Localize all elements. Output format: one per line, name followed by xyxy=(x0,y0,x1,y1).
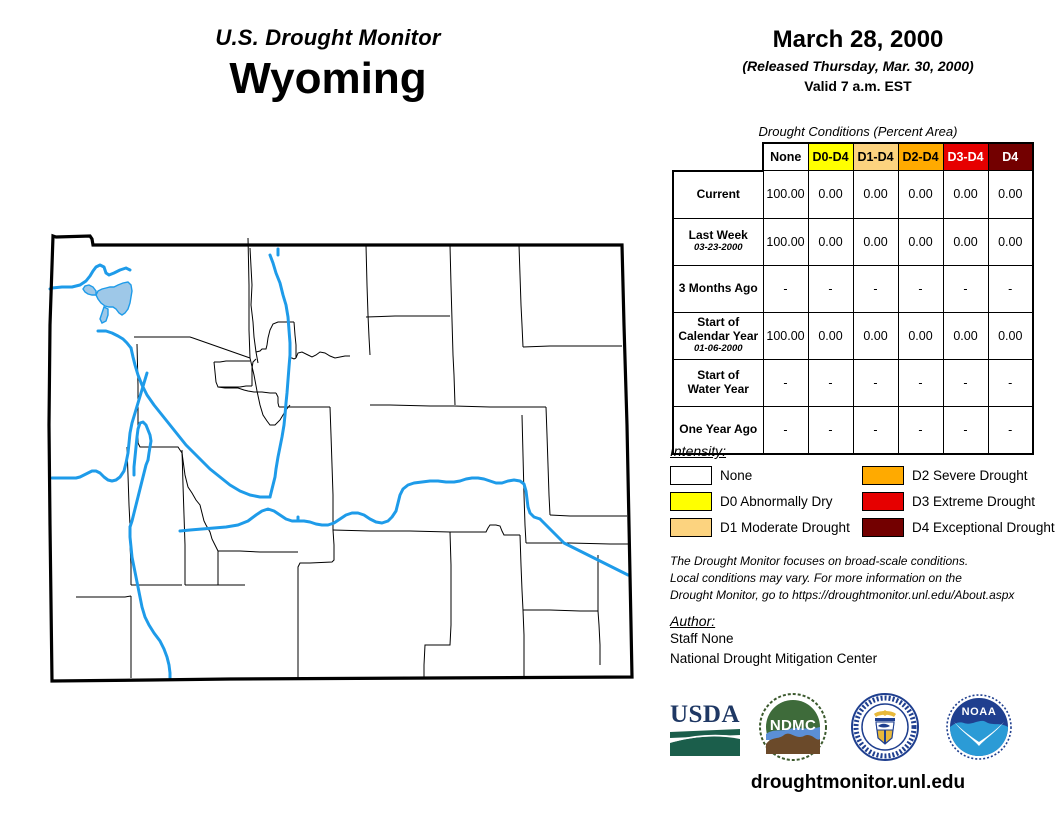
legend-label: None xyxy=(720,468,752,483)
legend-item: D0 Abnormally Dry xyxy=(670,491,833,511)
table-cell: 0.00 xyxy=(988,218,1033,265)
legend-swatch xyxy=(670,518,712,537)
legend-items: NoneD0 Abnormally DryD1 Moderate Drought… xyxy=(670,465,1050,543)
table-cell: - xyxy=(988,359,1033,406)
table-header-row: NoneD0-D4D1-D4D2-D4D3-D4D4 xyxy=(673,143,1033,171)
legend-item: D1 Moderate Drought xyxy=(670,517,850,537)
table-row: Last Week03-23-2000100.000.000.000.000.0… xyxy=(673,218,1033,265)
author-organization: National Drought Mitigation Center xyxy=(670,649,1050,669)
left-title-block: U.S. Drought Monitor Wyoming xyxy=(0,26,656,105)
program-title: U.S. Drought Monitor xyxy=(0,26,656,50)
partner-logos: USDA NDMC xyxy=(660,690,1056,770)
table-cell: 0.00 xyxy=(808,218,853,265)
table-cell: 0.00 xyxy=(898,218,943,265)
disclaimer-line-1: The Drought Monitor focuses on broad-sca… xyxy=(670,553,1050,570)
table-col-header-d3-d4: D3-D4 xyxy=(943,143,988,171)
disclaimer-line-3: Drought Monitor, go to https://droughtmo… xyxy=(670,587,1050,604)
wyoming-map xyxy=(30,225,640,695)
disclaimer-line-2: Local conditions may vary. For more info… xyxy=(670,570,1050,587)
table-cell: 0.00 xyxy=(853,312,898,359)
usdc-noaa-seal xyxy=(850,692,920,767)
legend-title: Intensity: xyxy=(670,443,1050,459)
svg-text:USDA: USDA xyxy=(670,701,740,728)
table-row: Current100.000.000.000.000.000.00 xyxy=(673,171,1033,219)
ndmc-logo: NDMC xyxy=(758,692,828,767)
table-cell: 100.00 xyxy=(763,218,808,265)
row-label: Current xyxy=(673,171,763,219)
wyoming-map-svg xyxy=(30,225,640,695)
table-col-header-none: None xyxy=(763,143,808,171)
table-cell: 0.00 xyxy=(943,312,988,359)
table-col-header-d2-d4: D2-D4 xyxy=(898,143,943,171)
table-cell: 0.00 xyxy=(853,171,898,219)
table-cell: 0.00 xyxy=(853,218,898,265)
table-cell: 0.00 xyxy=(808,171,853,219)
table-cell: 100.00 xyxy=(763,171,808,219)
table-cell: 0.00 xyxy=(808,312,853,359)
table-cell: 0.00 xyxy=(943,218,988,265)
row-sub-date: 03-23-2000 xyxy=(677,243,760,254)
noaa-logo: NOAA xyxy=(944,692,1014,767)
legend-swatch xyxy=(670,466,712,485)
state-area-fill xyxy=(49,236,632,681)
release-date: (Released Thursday, Mar. 30, 2000) xyxy=(660,58,1056,75)
row-label: Start ofCalendar Year01-06-2000 xyxy=(673,312,763,359)
table-cell: - xyxy=(943,359,988,406)
table-row: 3 Months Ago------ xyxy=(673,265,1033,312)
drought-monitor-page: U.S. Drought Monitor Wyoming xyxy=(0,0,1056,816)
legend-label: D3 Extreme Drought xyxy=(912,494,1035,509)
drought-conditions-table: NoneD0-D4D1-D4D2-D4D3-D4D4 Current100.00… xyxy=(672,142,1034,455)
disclaimer: The Drought Monitor focuses on broad-sca… xyxy=(670,553,1050,604)
table-row: Start ofWater Year------ xyxy=(673,359,1033,406)
legend-label: D4 Exceptional Drought xyxy=(912,520,1055,535)
usda-logo: USDA xyxy=(668,696,742,763)
table-caption: Drought Conditions (Percent Area) xyxy=(660,124,1056,139)
valid-time: Valid 7 a.m. EST xyxy=(660,78,1056,95)
table-cell: - xyxy=(898,359,943,406)
table-cell: - xyxy=(763,265,808,312)
table-body: Current100.000.000.000.000.000.00Last We… xyxy=(673,171,1033,454)
legend-item: D4 Exceptional Drought xyxy=(862,517,1055,537)
legend-item: D3 Extreme Drought xyxy=(862,491,1035,511)
legend-swatch xyxy=(862,518,904,537)
intensity-legend: Intensity: NoneD0 Abnormally DryD1 Moder… xyxy=(670,443,1050,543)
table-cell: - xyxy=(898,265,943,312)
legend-label: D2 Severe Drought xyxy=(912,468,1028,483)
legend-item: None xyxy=(670,465,752,485)
table-col-header-d0-d4: D0-D4 xyxy=(808,143,853,171)
state-title: Wyoming xyxy=(0,54,656,105)
legend-label: D1 Moderate Drought xyxy=(720,520,850,535)
table-cell: 0.00 xyxy=(943,171,988,219)
table-corner-cell xyxy=(673,143,763,171)
author-block: Author: Staff None National Drought Miti… xyxy=(670,613,1050,668)
table-cell: - xyxy=(808,359,853,406)
legend-item: D2 Severe Drought xyxy=(862,465,1028,485)
legend-swatch xyxy=(862,466,904,485)
table-cell: 0.00 xyxy=(988,312,1033,359)
legend-swatch xyxy=(670,492,712,511)
author-name: Staff None xyxy=(670,629,1050,649)
table-cell: 0.00 xyxy=(898,171,943,219)
table-cell: 0.00 xyxy=(988,171,1033,219)
footer-url[interactable]: droughtmonitor.unl.edu xyxy=(660,772,1056,794)
svg-text:NOAA: NOAA xyxy=(962,706,997,718)
legend-swatch xyxy=(862,492,904,511)
table-cell: - xyxy=(988,265,1033,312)
table-cell: - xyxy=(853,359,898,406)
row-label: Last Week03-23-2000 xyxy=(673,218,763,265)
row-label: Start ofWater Year xyxy=(673,359,763,406)
table-cell: - xyxy=(853,265,898,312)
svg-text:NDMC: NDMC xyxy=(770,717,816,734)
row-label: 3 Months Ago xyxy=(673,265,763,312)
legend-label: D0 Abnormally Dry xyxy=(720,494,833,509)
table-cell: - xyxy=(763,359,808,406)
table-cell: - xyxy=(943,265,988,312)
table-cell: 100.00 xyxy=(763,312,808,359)
right-header: March 28, 2000 (Released Thursday, Mar. … xyxy=(660,26,1056,95)
table-cell: - xyxy=(808,265,853,312)
table-row: Start ofCalendar Year01-06-2000100.000.0… xyxy=(673,312,1033,359)
author-title: Author: xyxy=(670,613,1050,629)
row-sub-date: 01-06-2000 xyxy=(677,344,760,355)
table-cell: 0.00 xyxy=(898,312,943,359)
table-col-header-d1-d4: D1-D4 xyxy=(853,143,898,171)
report-date: March 28, 2000 xyxy=(660,26,1056,54)
table-col-header-d4: D4 xyxy=(988,143,1033,171)
